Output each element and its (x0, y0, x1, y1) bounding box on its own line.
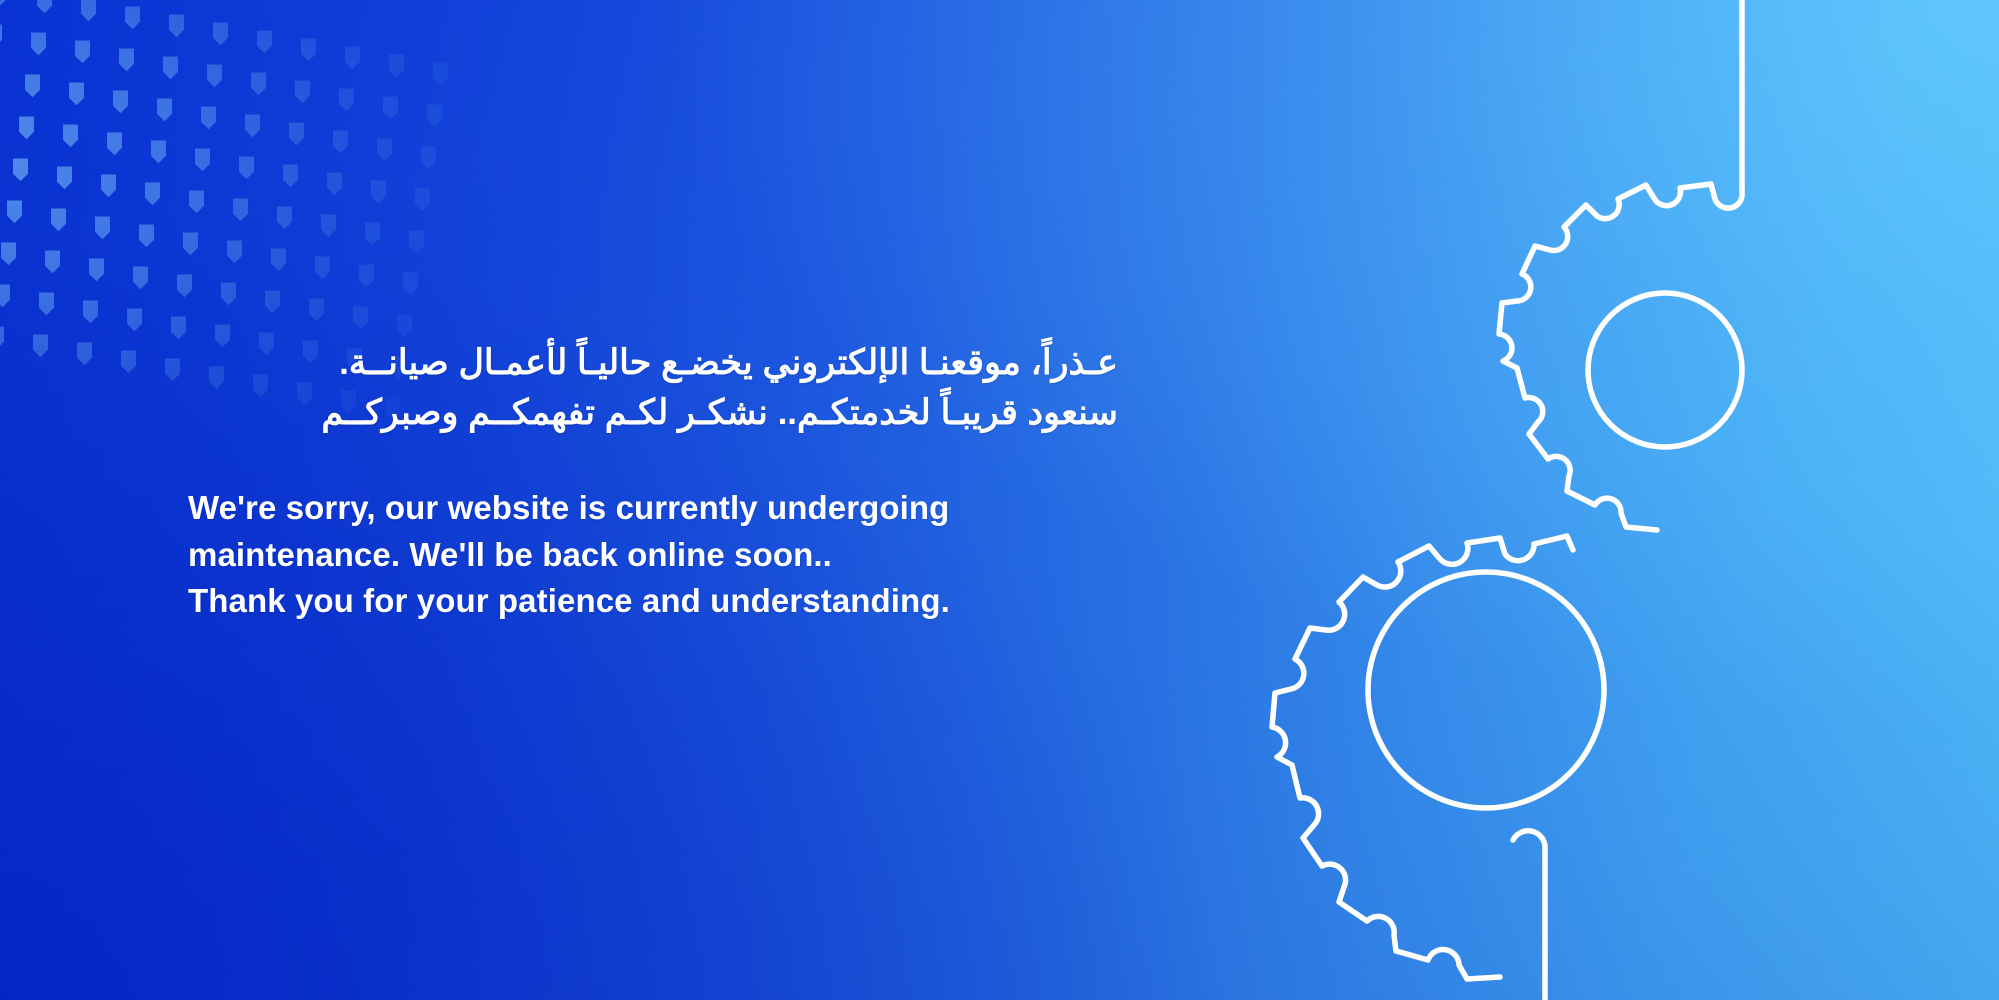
english-line-1: We're sorry, our website is currently un… (188, 485, 1188, 531)
maintenance-page: عـذراً، موقعنـا الإلكتروني يخضـع حاليـاً… (0, 0, 1999, 1000)
message-block: عـذراً، موقعنـا الإلكتروني يخضـع حاليـاً… (188, 338, 1188, 624)
english-message: We're sorry, our website is currently un… (188, 485, 1188, 624)
arabic-message: عـذراً، موقعنـا الإلكتروني يخضـع حاليـاً… (0, 338, 1118, 437)
english-line-2: maintenance. We'll be back online soon.. (188, 532, 1188, 578)
arabic-line-2: سنعود قريبـاً لخدمتكـم.. نشكـر لكـم تفهم… (188, 388, 1118, 438)
english-line-3: Thank you for your patience and understa… (188, 578, 1188, 624)
arabic-line-1: عـذراً، موقعنـا الإلكتروني يخضـع حاليـاً… (188, 338, 1118, 388)
